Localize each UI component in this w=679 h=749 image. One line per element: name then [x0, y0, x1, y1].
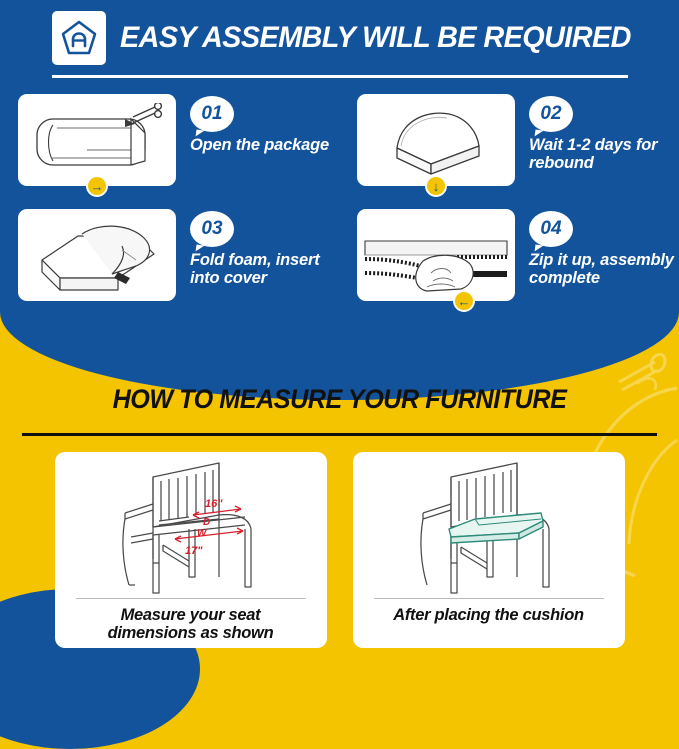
measure-card-dimensions: 16" D W 17" Measure your seat dimensions…	[55, 452, 327, 648]
measure-divider	[22, 433, 657, 436]
page-title: EASY ASSEMBLY WILL BE REQUIRED	[120, 21, 631, 55]
measure-card-cushion: After placing the cushion	[353, 452, 625, 648]
step-text-03: 03 Fold foam, insert into cover	[190, 209, 339, 288]
step-number-badge: 02	[529, 96, 573, 132]
assembly-section: EASY ASSEMBLY WILL BE REQUIRED	[0, 0, 679, 400]
step-card-02: ↓ 02 Wait 1-2 days for rebound	[339, 90, 678, 205]
step-card-04: ← 04 Zip it up, assembly complete	[339, 205, 678, 320]
chair-with-measurements-icon: 16" D W 17"	[93, 458, 289, 596]
step-label: Fold foam, insert into cover	[190, 251, 339, 288]
header: EASY ASSEMBLY WILL BE REQUIRED	[0, 10, 679, 66]
measure-section-title: HOW TO MEASURE YOUR FURNITURE	[17, 384, 662, 415]
arrow-left-icon: ←	[453, 290, 475, 312]
step-text-02: 02 Wait 1-2 days for rebound	[529, 94, 678, 173]
depth-symbol-label: D	[203, 517, 210, 528]
step-card-03: 03 Fold foam, insert into cover	[0, 205, 339, 320]
arrow-right-icon: →	[86, 175, 108, 197]
step-number-badge: 01	[190, 96, 234, 132]
measure-cards: 16" D W 17" Measure your seat dimensions…	[0, 452, 679, 652]
step-card-01: → 01 Open the package	[0, 90, 339, 205]
chair-with-cushion-icon	[391, 458, 587, 596]
card-caption-line-1: Measure your seat	[108, 606, 274, 624]
steps-row-1: → 01 Open the package ↓	[0, 90, 679, 205]
card-caption-line-2: dimensions as shown	[108, 624, 274, 642]
width-symbol-label: W	[197, 528, 208, 539]
card-caption: Measure your seat dimensions as shown	[108, 599, 274, 643]
card-caption-line-1: After placing the cushion	[393, 606, 584, 624]
step-number-badge: 03	[190, 211, 234, 247]
header-divider	[52, 75, 628, 78]
card-caption: After placing the cushion	[393, 599, 584, 624]
house-pentagon-logo-icon	[52, 11, 106, 65]
step-label: Open the package	[190, 136, 329, 154]
step-label: Wait 1-2 days for rebound	[529, 136, 678, 173]
width-value-label: 17"	[185, 545, 203, 557]
step-number-badge: 04	[529, 211, 573, 247]
package-with-scissors-icon: →	[18, 94, 176, 186]
step-text-04: 04 Zip it up, assembly complete	[529, 209, 678, 288]
arrow-down-icon: ↓	[425, 175, 447, 197]
steps-row-2: 03 Fold foam, insert into cover	[0, 205, 679, 320]
depth-value-label: 16"	[205, 498, 223, 510]
step-label: Zip it up, assembly complete	[529, 251, 678, 288]
step-text-01: 01 Open the package	[190, 94, 329, 154]
steps-grid: → 01 Open the package ↓	[0, 90, 679, 320]
hand-zipping-cover-icon: ←	[357, 209, 515, 301]
folding-foam-into-cover-icon	[18, 209, 176, 301]
foam-cushion-icon: ↓	[357, 94, 515, 186]
